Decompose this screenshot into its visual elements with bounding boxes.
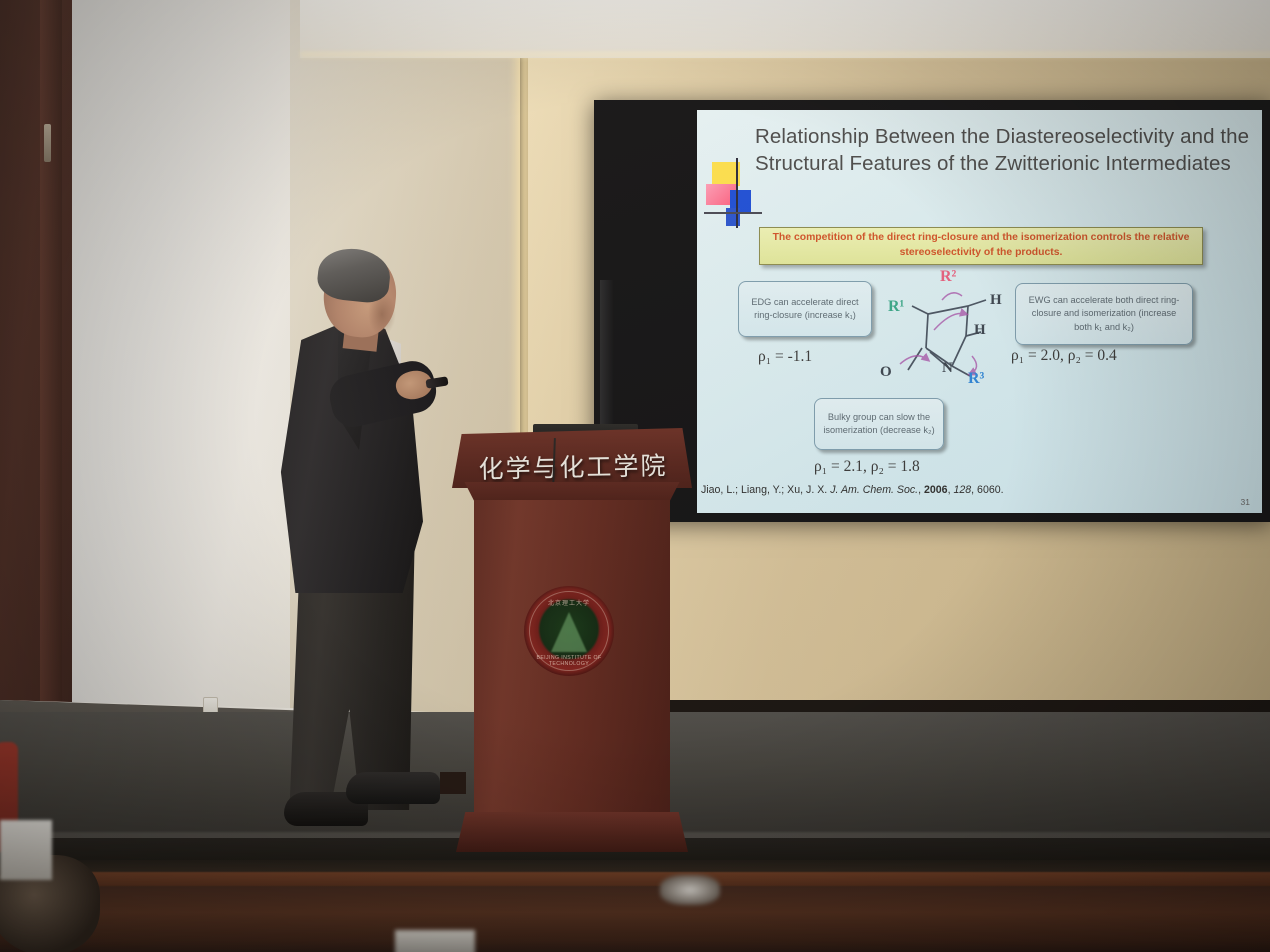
- podium-label: 化学与化工学院: [462, 446, 685, 486]
- podium-base: [456, 812, 688, 852]
- structure-label-r2: R²: [940, 268, 956, 286]
- emblem-bottom-text: BEIJING INSTITUTE OF TECHNOLOGY: [524, 655, 614, 667]
- rho-value-left: ρ₁ = -1.1: [758, 348, 812, 366]
- pine-tree-icon: [551, 612, 587, 652]
- slide-title: Relationship Between the Diastereoselect…: [755, 124, 1250, 177]
- citation-volume: 128: [953, 484, 971, 496]
- speaker-shoe-right: [346, 772, 440, 804]
- university-emblem: 北京理工大学 BEIJING INSTITUTE OF TECHNOLOGY: [524, 586, 614, 676]
- structure-label-oxygen: O: [880, 364, 892, 381]
- slide-banner-text: The competition of the direct ring-closu…: [768, 231, 1194, 261]
- foreground-light-object-1: [0, 820, 52, 880]
- structure-label-h-mid: H: [974, 322, 986, 339]
- rho-value-bottom: ρ₁ = 2.1, ρ₂ = 1.8: [814, 458, 920, 476]
- structure-label-r1: R¹: [888, 298, 904, 316]
- callout-bulky: Bulky group can slow the isomerization (…: [814, 398, 944, 450]
- structure-label-h-top: H: [990, 292, 1002, 309]
- powerpoint-decoration-icon: [704, 158, 762, 230]
- structure-bonds-svg: [882, 270, 1027, 405]
- lecture-hall-photo: Relationship Between the Diastereoselect…: [0, 0, 1270, 952]
- callout-ewg: EWG can accelerate both direct ring-clos…: [1015, 283, 1193, 345]
- citation-authors: Jiao, L.; Liang, Y.; Xu, J. X.: [701, 484, 827, 496]
- presentation-slide: Relationship Between the Diastereoselect…: [697, 110, 1262, 513]
- podium-step-block: [440, 772, 466, 794]
- ceiling-light-edge: [300, 52, 1270, 60]
- emblem-top-text: 北京理工大学: [524, 598, 614, 607]
- foreground-light-object-3: [660, 875, 720, 905]
- foreground-light-object-2: [395, 930, 475, 952]
- citation-page: 6060.: [977, 484, 1004, 496]
- slide-citation: Jiao, L.; Liang, Y.; Xu, J. X. J. Am. Ch…: [701, 484, 1221, 496]
- slide-number: 31: [1241, 497, 1250, 507]
- ceiling: [300, 0, 1270, 58]
- callout-edg: EDG can accelerate direct ring-closure (…: [738, 281, 872, 337]
- citation-year: 2006: [924, 484, 948, 496]
- slide-banner: The competition of the direct ring-closu…: [759, 227, 1203, 265]
- structure-label-nitrogen: N: [942, 360, 953, 377]
- structure-label-r3: R³: [968, 370, 984, 388]
- citation-journal: J. Am. Chem. Soc.: [830, 484, 918, 496]
- door-handle[interactable]: [44, 124, 51, 162]
- zwitterionic-intermediate-structure: R¹ R² R³ H H O N: [882, 270, 1027, 405]
